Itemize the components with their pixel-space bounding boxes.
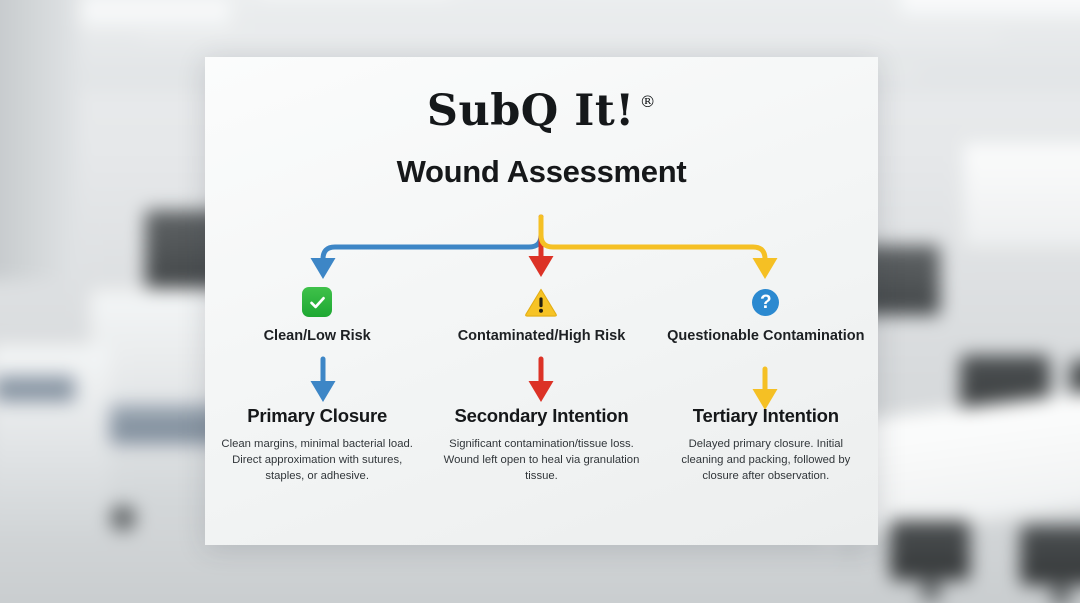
chair-wheel [920, 580, 942, 602]
office-chair [1020, 525, 1080, 585]
brand-wordmark: SubQ It!® [205, 57, 878, 133]
outcome-primary-closure: Primary Closure Clean margins, minimal b… [205, 405, 429, 484]
green-check-icon [302, 287, 332, 317]
outcome-secondary-intention: Secondary Intention Significant contamin… [429, 405, 653, 484]
arrow-title-to-questionable [541, 217, 765, 264]
registered-trademark-icon: ® [640, 92, 657, 111]
arrow-title-to-clean [323, 217, 541, 264]
risk-label-questionable: Questionable Contamination [660, 328, 872, 345]
cart-blue-panel [0, 375, 75, 401]
outcome-desc-secondary: Significant contamination/tissue loss. W… [443, 436, 639, 484]
risk-label-clean: Clean/Low Risk [211, 328, 423, 345]
risk-category-row: Clean/Low Risk Contaminated/High Risk ? … [205, 285, 878, 345]
left-wall [0, 0, 80, 280]
questionable-icon-wrap: ? [660, 285, 872, 319]
chair-wheel [1050, 585, 1072, 603]
whiteboard [960, 140, 1080, 250]
ceiling-light-panel [900, 0, 1080, 16]
risk-label-contaminated: Contaminated/High Risk [435, 328, 647, 345]
warning-triangle-icon [524, 287, 558, 317]
outcome-desc-primary: Clean margins, minimal bacterial load. D… [219, 436, 415, 484]
contaminated-icon-wrap [435, 285, 647, 319]
outcome-desc-tertiary: Delayed primary closure. Initial cleanin… [668, 436, 864, 484]
outcome-title-secondary: Secondary Intention [443, 405, 639, 427]
equipment-cart [0, 345, 110, 535]
page-title: Wound Assessment [205, 154, 878, 190]
cart-wheel [110, 505, 136, 531]
ceiling-light-panel [80, 0, 230, 26]
branch-questionable: ? Questionable Contamination [654, 285, 878, 345]
outcome-row: Primary Closure Clean margins, minimal b… [205, 405, 878, 484]
clean-icon-wrap [211, 285, 423, 319]
ceiling-rib [140, 36, 1000, 39]
outcome-title-tertiary: Tertiary Intention [668, 405, 864, 427]
brand-name: SubQ It! [427, 86, 635, 136]
branch-clean: Clean/Low Risk [205, 285, 429, 345]
question-circle-icon: ? [752, 289, 779, 316]
outcome-title-primary: Primary Closure [219, 405, 415, 427]
branch-contaminated: Contaminated/High Risk [429, 285, 653, 345]
office-chair [890, 520, 970, 580]
infographic-card: SubQ It!® Wound Assessment [205, 57, 878, 545]
outcome-tertiary-intention: Tertiary Intention Delayed primary closu… [654, 405, 878, 484]
